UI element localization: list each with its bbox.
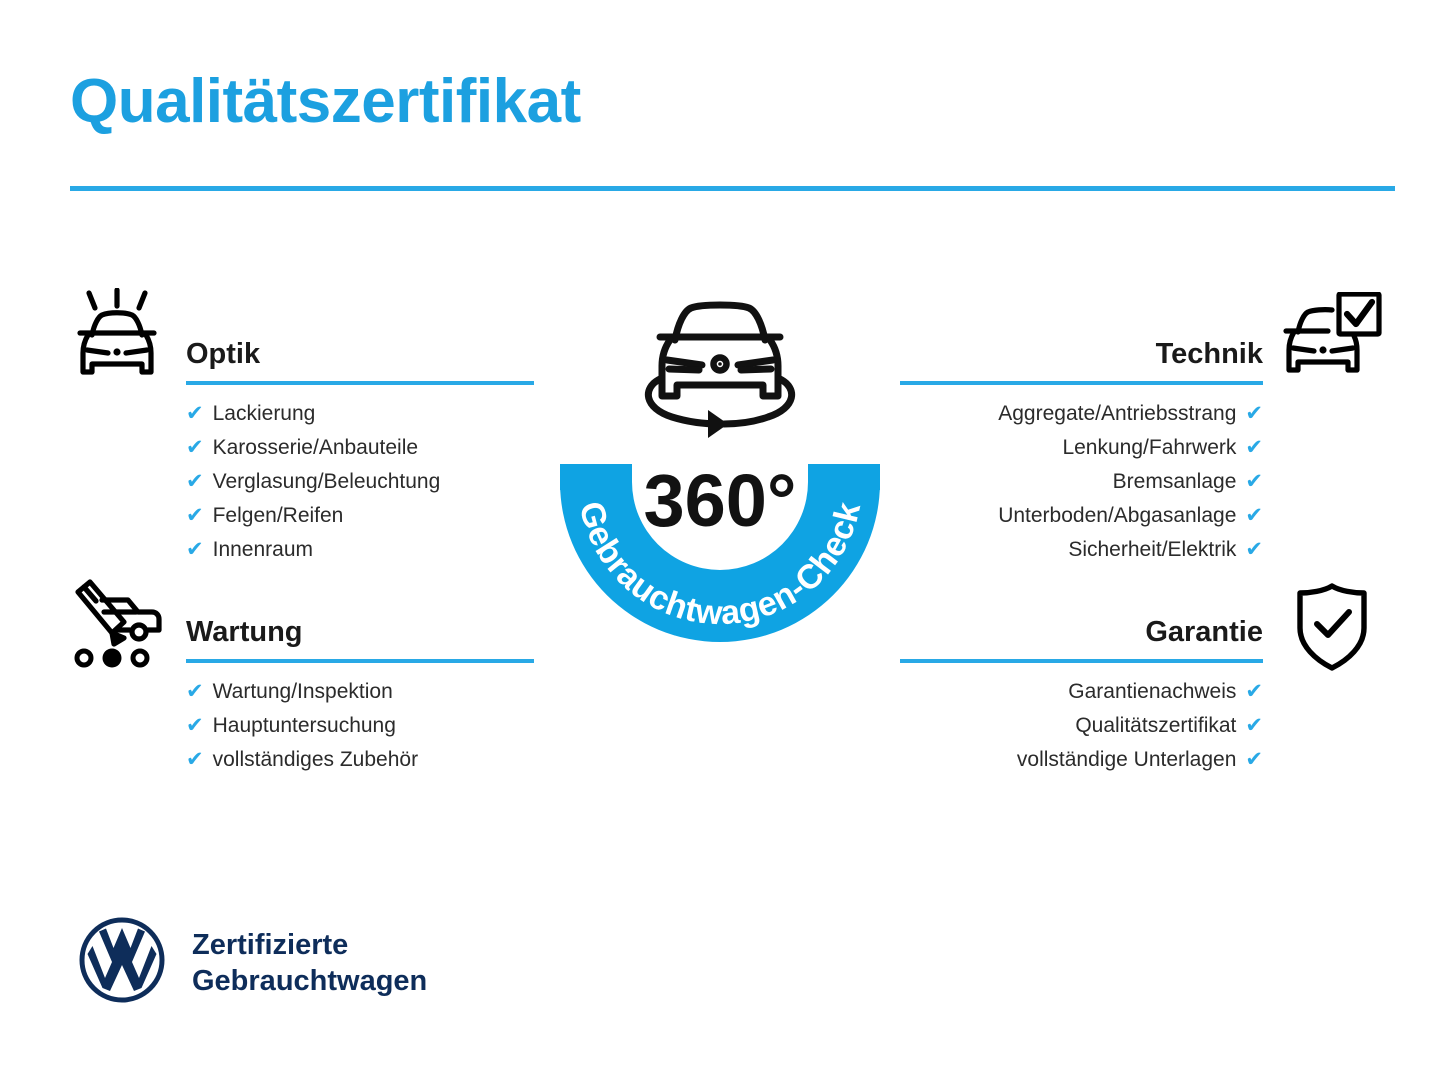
list-item: ✔Felgen/Reifen: [186, 499, 534, 533]
list-item-label: vollständige Unterlagen: [1017, 743, 1236, 777]
check-icon: ✔: [186, 743, 204, 777]
check-icon: ✔: [1245, 709, 1263, 743]
section-garantie-divider: [900, 659, 1263, 663]
pencil-car-service-icon: [68, 578, 166, 675]
list-item-label: Lenkung/Fahrwerk: [1062, 431, 1236, 465]
list-item: Sicherheit/Elektrik✔: [900, 533, 1263, 567]
section-optik-divider: [186, 381, 534, 385]
vw-certified-lockup: Zertifizierte Gebrauchtwagen: [78, 916, 427, 1009]
list-item: ✔Wartung/Inspektion: [186, 675, 534, 709]
check-icon: ✔: [186, 431, 204, 465]
list-item: Bremsanlage✔: [900, 465, 1263, 499]
360-gebrauchtwagen-check-badge: Gebrauchtwagen-Check 360°: [516, 278, 924, 686]
list-item: ✔Karosserie/Anbauteile: [186, 431, 534, 465]
section-garantie-head: Garantie: [900, 611, 1263, 663]
list-item: Garantienachweis✔: [900, 675, 1263, 709]
degrees-label: 360°: [643, 459, 796, 542]
check-icon: ✔: [1245, 675, 1263, 709]
check-icon: ✔: [1245, 743, 1263, 777]
list-item-label: Verglasung/Beleuchtung: [213, 465, 441, 499]
section-wartung-list: ✔Wartung/Inspektion ✔Hauptuntersuchung ✔…: [186, 675, 534, 777]
section-technik-head: Technik: [900, 333, 1263, 385]
section-optik-title: Optik: [186, 333, 534, 375]
section-wartung-head: Wartung: [186, 611, 534, 663]
list-item-label: Bremsanlage: [1113, 465, 1237, 499]
list-item-label: Unterboden/Abgasanlage: [998, 499, 1236, 533]
vw-lockup-text: Zertifizierte Gebrauchtwagen: [192, 927, 427, 999]
list-item: Lenkung/Fahrwerk✔: [900, 431, 1263, 465]
section-garantie-title: Garantie: [900, 611, 1263, 653]
list-item-label: Hauptuntersuchung: [213, 709, 396, 743]
car-rotate-icon: [648, 305, 791, 438]
check-icon: ✔: [1245, 431, 1263, 465]
car-front-shine-icon: [68, 288, 166, 389]
certificate-page: Qualitätszertifikat: [0, 0, 1440, 1080]
car-front-checkbox-icon: [1282, 292, 1382, 389]
list-item-label: Wartung/Inspektion: [213, 675, 393, 709]
page-title: Qualitätszertifikat: [70, 68, 581, 136]
shield-check-icon: [1294, 582, 1370, 677]
check-icon: ✔: [1245, 465, 1263, 499]
vw-lockup-line1: Zertifizierte: [192, 929, 348, 961]
section-optik-head: Optik: [186, 333, 534, 385]
list-item-label: Qualitätszertifikat: [1075, 709, 1236, 743]
list-item-label: Innenraum: [213, 533, 313, 567]
vw-logo: [78, 916, 166, 1009]
section-garantie-list: Garantienachweis✔ Qualitätszertifikat✔ v…: [900, 675, 1263, 777]
list-item-label: vollständiges Zubehör: [213, 743, 418, 777]
check-icon: ✔: [186, 709, 204, 743]
list-item: ✔Lackierung: [186, 397, 534, 431]
list-item-label: Karosserie/Anbauteile: [213, 431, 418, 465]
section-garantie: Garantie Garantienachweis✔ Qualitätszert…: [900, 611, 1263, 777]
list-item: ✔Verglasung/Beleuchtung: [186, 465, 534, 499]
section-wartung-title: Wartung: [186, 611, 534, 653]
list-item: ✔Hauptuntersuchung: [186, 709, 534, 743]
list-item: ✔Innenraum: [186, 533, 534, 567]
section-technik-title: Technik: [900, 333, 1263, 375]
check-icon: ✔: [186, 397, 204, 431]
section-wartung: Wartung ✔Wartung/Inspektion ✔Hauptunters…: [186, 611, 534, 777]
list-item-label: Felgen/Reifen: [213, 499, 344, 533]
section-technik-divider: [900, 381, 1263, 385]
check-icon: ✔: [186, 675, 204, 709]
check-icon: ✔: [1245, 499, 1263, 533]
list-item: vollständige Unterlagen✔: [900, 743, 1263, 777]
list-item: Unterboden/Abgasanlage✔: [900, 499, 1263, 533]
section-technik: Technik Aggregate/Antriebsstrang✔ Lenkun…: [900, 333, 1263, 567]
section-technik-list: Aggregate/Antriebsstrang✔ Lenkung/Fahrwe…: [900, 397, 1263, 567]
list-item-label: Sicherheit/Elektrik: [1068, 533, 1236, 567]
check-icon: ✔: [186, 533, 204, 567]
section-optik-list: ✔Lackierung ✔Karosserie/Anbauteile ✔Verg…: [186, 397, 534, 567]
list-item-label: Garantienachweis: [1068, 675, 1236, 709]
check-icon: ✔: [186, 499, 204, 533]
list-item: Qualitätszertifikat✔: [900, 709, 1263, 743]
check-icon: ✔: [1245, 397, 1263, 431]
list-item-label: Aggregate/Antriebsstrang: [998, 397, 1236, 431]
section-wartung-divider: [186, 659, 534, 663]
list-item: Aggregate/Antriebsstrang✔: [900, 397, 1263, 431]
check-icon: ✔: [186, 465, 204, 499]
section-optik: Optik ✔Lackierung ✔Karosserie/Anbauteile…: [186, 333, 534, 567]
check-icon: ✔: [1245, 533, 1263, 567]
title-divider: [70, 186, 1395, 191]
list-item: ✔vollständiges Zubehör: [186, 743, 534, 777]
list-item-label: Lackierung: [213, 397, 316, 431]
vw-lockup-line2: Gebrauchtwagen: [192, 965, 427, 997]
